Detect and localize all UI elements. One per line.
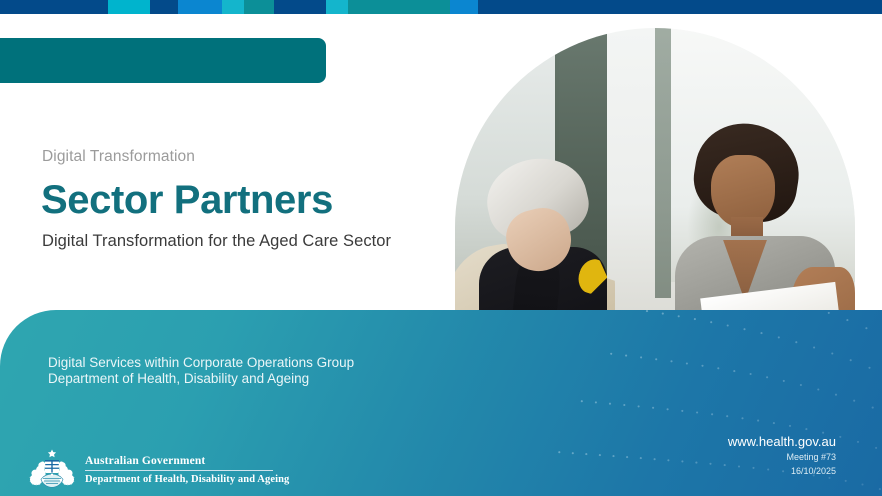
eyebrow-label: Digital Transformation [42, 148, 195, 166]
meeting-number: Meeting #73 [786, 452, 836, 462]
top-bar-segment-2 [150, 0, 178, 14]
top-bar-segment-8 [348, 0, 450, 14]
lockup-line-2: Department of Health, Disability and Age… [85, 474, 289, 485]
org-line-1: Digital Services within Corporate Operat… [48, 355, 354, 371]
top-colour-bar [0, 0, 882, 14]
top-bar-segment-1 [108, 0, 150, 14]
australian-coat-of-arms-icon [28, 448, 76, 492]
top-bar-segment-9 [450, 0, 478, 14]
page-title: Sector Partners [41, 178, 333, 223]
page-subtitle: Digital Transformation for the Aged Care… [42, 232, 391, 251]
presentation-date: 16/10/2025 [791, 466, 836, 476]
top-bar-segment-4 [222, 0, 244, 14]
top-bar-segment-10 [478, 0, 882, 14]
teal-accent-tab [0, 38, 326, 83]
org-line-2: Department of Health, Disability and Age… [48, 371, 354, 387]
slide: Digital Transformation Sector Partners D… [0, 0, 882, 496]
website-url[interactable]: www.health.gov.au [728, 434, 836, 449]
top-bar-segment-0 [0, 0, 108, 14]
lockup-text: Australian Government Department of Heal… [85, 455, 289, 485]
lockup-divider [85, 470, 273, 471]
top-bar-segment-7 [326, 0, 348, 14]
top-bar-segment-3 [178, 0, 222, 14]
top-bar-segment-6 [274, 0, 326, 14]
photo-pillar-secondary [655, 28, 671, 298]
org-attribution: Digital Services within Corporate Operat… [48, 355, 354, 388]
lockup-line-1: Australian Government [85, 455, 289, 467]
government-lockup: Australian Government Department of Heal… [28, 448, 289, 492]
top-bar-segment-5 [244, 0, 274, 14]
